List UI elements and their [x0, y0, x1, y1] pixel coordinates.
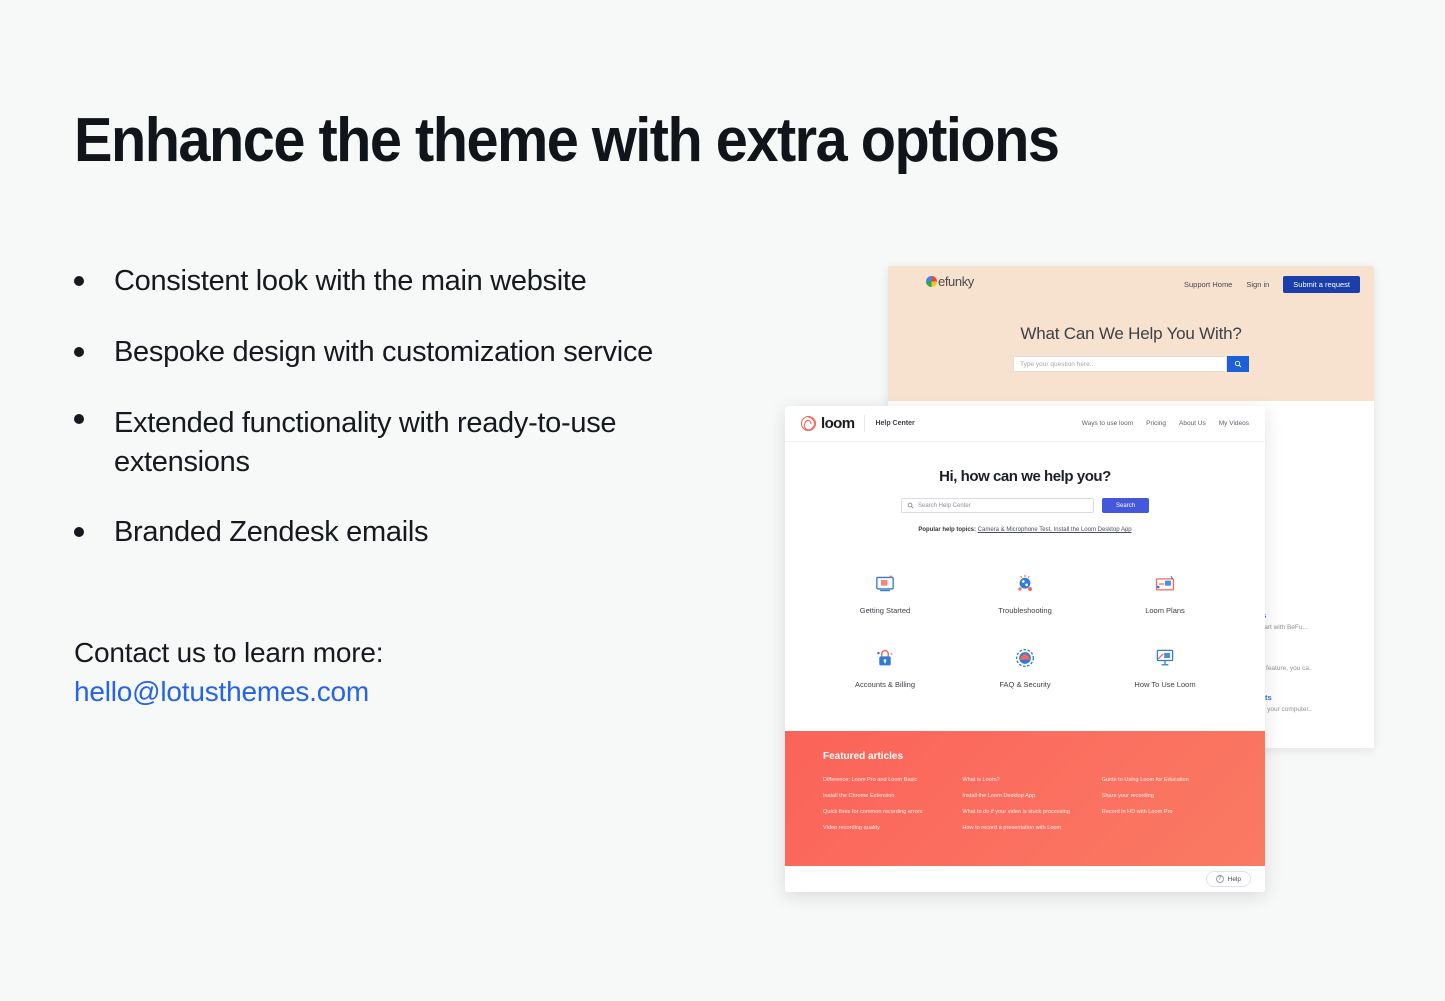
befunky-nav: Support Home Sign in Submit a request: [1184, 276, 1360, 293]
loom-featured-articles: Featured articles Difference: Loom Pro a…: [785, 731, 1265, 866]
lock-icon: [815, 641, 955, 675]
presentation-screen-icon: [1095, 641, 1235, 675]
bullet-text: Branded Zendesk emails: [114, 513, 428, 552]
loom-heading: Hi, how can we help you?: [785, 468, 1265, 485]
wrench-gear-icon: [955, 567, 1095, 601]
bullet-text: Extended functionality with ready-to-use…: [114, 404, 714, 482]
nav-about-us[interactable]: About Us: [1179, 420, 1206, 427]
nav-my-videos[interactable]: My Videos: [1219, 420, 1249, 427]
featured-column-3: Guide to Using Loom for Education Share …: [1102, 777, 1227, 841]
contact-block: Contact us to learn more: hello@lotusthe…: [74, 634, 383, 711]
nav-sign-in[interactable]: Sign in: [1246, 280, 1269, 289]
featured-column-2: What is Loom? Install the Loom Desktop A…: [962, 777, 1087, 841]
loom-logo[interactable]: loom: [801, 415, 854, 432]
featured-link[interactable]: How to record a presentation with Loom: [962, 825, 1087, 831]
bullet-dot-icon: [74, 414, 84, 424]
loom-section-label: Help Center: [875, 420, 914, 427]
shield-cloud-icon: [955, 641, 1095, 675]
search-icon: [907, 502, 914, 509]
category-label: Accounts & Billing: [815, 680, 955, 689]
nav-pricing[interactable]: Pricing: [1146, 420, 1166, 427]
featured-articles-title: Featured articles: [823, 751, 1227, 762]
loom-search-input[interactable]: Search Help Center: [901, 498, 1094, 513]
plan-card-icon: [1095, 567, 1235, 601]
loom-logo-text: loom: [821, 415, 854, 432]
help-widget-label: Help: [1228, 876, 1241, 883]
befunky-color-wheel-icon: [926, 276, 937, 287]
feature-bullet-list: Consistent look with the main website Be…: [74, 262, 714, 584]
list-item: Extended functionality with ready-to-use…: [74, 404, 714, 482]
category-label: How To Use Loom: [1095, 680, 1235, 689]
featured-link[interactable]: Install the Chrome Extension: [823, 793, 948, 799]
featured-link[interactable]: Difference: Loom Pro and Loom Basic: [823, 777, 948, 783]
featured-link[interactable]: Share your recording: [1102, 793, 1227, 799]
contact-label: Contact us to learn more:: [74, 634, 383, 673]
featured-link[interactable]: Install the Loom Desktop App: [962, 793, 1087, 799]
list-item: Bespoke design with customization servic…: [74, 333, 714, 372]
loom-search-row: Search Help Center Search: [901, 498, 1149, 513]
category-label: Loom Plans: [1095, 606, 1235, 615]
loom-footer: ? Help: [785, 866, 1265, 892]
page-title: Enhance the theme with extra options: [74, 108, 1058, 173]
category-label: Getting Started: [815, 606, 955, 615]
monitor-window-icon: [815, 567, 955, 601]
featured-link[interactable]: What is Loom?: [962, 777, 1087, 783]
submit-request-button[interactable]: Submit a request: [1283, 276, 1360, 293]
nav-ways-to-use-loom[interactable]: Ways to use loom: [1082, 420, 1133, 427]
featured-link[interactable]: What to do if your video is stuck proces…: [962, 809, 1087, 815]
category-label: Troubleshooting: [955, 606, 1095, 615]
question-mark-icon: ?: [1216, 875, 1224, 883]
featured-articles-columns: Difference: Loom Pro and Loom Basic Inst…: [823, 777, 1227, 841]
featured-link[interactable]: Record in HD with Loom Pro: [1102, 809, 1227, 815]
loom-help-center-screenshot: loom Help Center Ways to use loom Pricin…: [785, 406, 1265, 892]
nav-support-home[interactable]: Support Home: [1184, 280, 1232, 289]
bullet-dot-icon: [74, 347, 84, 357]
bullet-text: Consistent look with the main website: [114, 262, 586, 301]
featured-link[interactable]: Quick fixes for common recording errors: [823, 809, 948, 815]
bullet-text: Bespoke design with customization servic…: [114, 333, 653, 372]
category-label: FAQ & Security: [955, 680, 1095, 689]
loom-swirl-icon: [801, 416, 816, 431]
featured-link[interactable]: Guide to Using Loom for Education: [1102, 777, 1227, 783]
category-troubleshooting[interactable]: Troubleshooting: [955, 567, 1095, 615]
search-icon: [1234, 360, 1242, 368]
contact-email-link[interactable]: hello@lotusthemes.com: [74, 673, 383, 712]
popular-topics-links[interactable]: Camera & Microphone Test, Install the Lo…: [978, 527, 1132, 533]
help-widget-button[interactable]: ? Help: [1206, 871, 1251, 887]
loom-category-grid: Getting Started Troubleshooting Loom Pla…: [785, 539, 1265, 689]
popular-topics-label: Popular help topics:: [918, 527, 976, 533]
category-getting-started[interactable]: Getting Started: [815, 567, 955, 615]
loom-search-button[interactable]: Search: [1102, 498, 1149, 513]
loom-header: loom Help Center Ways to use loom Pricin…: [785, 406, 1265, 442]
header-divider: [864, 415, 865, 432]
befunky-logo[interactable]: efunky: [926, 274, 974, 289]
befunky-heading: What Can We Help You With?: [888, 324, 1374, 344]
befunky-logo-text: efunky: [938, 274, 974, 289]
befunky-search-button[interactable]: [1227, 356, 1249, 372]
loom-nav: Ways to use loom Pricing About Us My Vid…: [1082, 420, 1249, 427]
befunky-search-row: Type your question here..: [1013, 356, 1249, 372]
bullet-dot-icon: [74, 527, 84, 537]
list-item: Consistent look with the main website: [74, 262, 714, 301]
loom-hero: Hi, how can we help you? Search Help Cen…: [785, 442, 1265, 539]
category-loom-plans[interactable]: Loom Plans: [1095, 567, 1235, 615]
befunky-search-input[interactable]: Type your question here..: [1013, 356, 1227, 372]
befunky-hero: efunky Support Home Sign in Submit a req…: [888, 266, 1374, 401]
loom-search-placeholder: Search Help Center: [918, 503, 971, 509]
loom-popular-topics: Popular help topics: Camera & Microphone…: [785, 527, 1265, 533]
category-faq-security[interactable]: FAQ & Security: [955, 641, 1095, 689]
list-item: Branded Zendesk emails: [74, 513, 714, 552]
slide-canvas: Enhance the theme with extra options Con…: [0, 0, 1445, 1001]
featured-column-1: Difference: Loom Pro and Loom Basic Inst…: [823, 777, 948, 841]
bullet-dot-icon: [74, 276, 84, 286]
featured-link[interactable]: Video recording quality: [823, 825, 948, 831]
category-accounts-billing[interactable]: Accounts & Billing: [815, 641, 955, 689]
category-how-to-use-loom[interactable]: How To Use Loom: [1095, 641, 1235, 689]
